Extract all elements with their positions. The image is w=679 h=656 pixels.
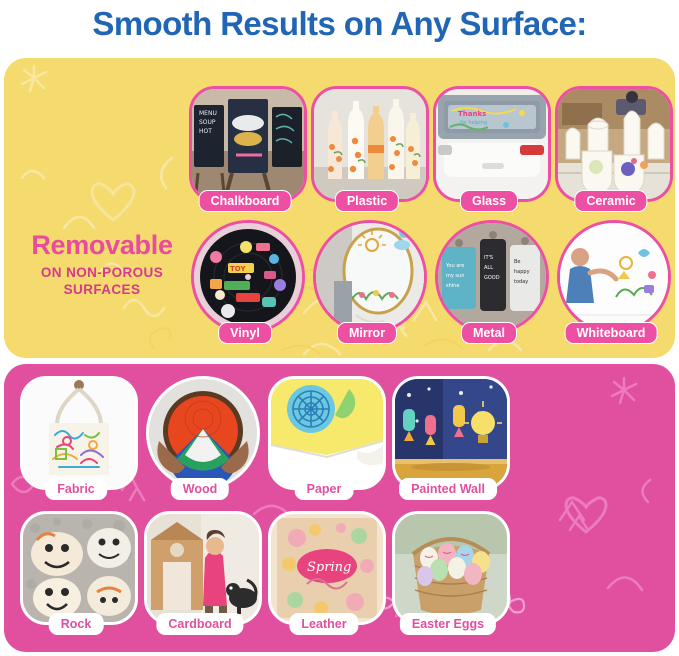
tile-ceramic[interactable]: Ceramic: [555, 86, 667, 204]
thumb-mirror: [313, 220, 427, 334]
section-removable: Removable ON NON-POROUS SURFACES MENUSOU…: [4, 58, 675, 358]
thumb-wood: [146, 376, 260, 490]
section-caption-removable: Removable ON NON-POROUS SURFACES: [6, 230, 198, 298]
tile-label: Chalkboard: [199, 190, 292, 212]
svg-text:Thanks: Thanks: [458, 110, 486, 118]
section-permanent: Permanent ON POROUS SURFACES: [4, 364, 675, 652]
svg-text:shine: shine: [446, 283, 459, 289]
tile-leather[interactable]: Spring Leather: [268, 511, 380, 631]
thumb-vinyl: TOY: [191, 220, 305, 334]
thumb-glass: Thanks for helping: [433, 86, 551, 202]
section-heading: Removable: [6, 230, 198, 260]
tile-glass[interactable]: Thanks for helping Glass: [433, 86, 545, 204]
heart-icon: [90, 180, 136, 222]
svg-text:today: today: [514, 279, 528, 285]
thumb-plastic: [311, 86, 429, 202]
tile-whiteboard[interactable]: Whiteboard: [555, 220, 667, 340]
thumb-paper: [268, 376, 386, 490]
svg-text:TOY: TOY: [230, 265, 246, 273]
heart-icon: [564, 494, 608, 534]
thumb-easter-eggs: [392, 511, 510, 625]
tile-painted-wall[interactable]: Painted Wall: [392, 376, 504, 496]
svg-text:IT'S: IT'S: [484, 255, 493, 261]
tile-fabric[interactable]: Fabric: [20, 376, 132, 496]
section-subheading-line2: SURFACES: [64, 282, 141, 297]
svg-text:ALL: ALL: [484, 265, 493, 271]
tile-label: Wood: [171, 478, 229, 500]
tile-label: Vinyl: [218, 322, 272, 344]
tile-label: Whiteboard: [565, 322, 658, 344]
tile-label: Leather: [289, 613, 358, 635]
thumb-whiteboard: [557, 220, 671, 334]
svg-text:Spring: Spring: [307, 560, 351, 575]
tile-chalkboard[interactable]: MENUSOUPHOT Chalkboard: [189, 86, 301, 204]
svg-text:HOT: HOT: [199, 128, 212, 135]
tile-label: Cardboard: [156, 613, 243, 635]
tile-mirror[interactable]: Mirror: [311, 220, 423, 340]
thumb-fabric: [20, 376, 138, 490]
thumb-painted-wall: [392, 376, 510, 490]
tile-label: Mirror: [337, 322, 397, 344]
page-title: Smooth Results on Any Surface:: [0, 2, 679, 46]
svg-text:You are: You are: [445, 263, 464, 269]
svg-text:SOUP: SOUP: [199, 119, 216, 126]
tile-rock[interactable]: Rock: [20, 511, 132, 631]
tile-label: Glass: [460, 190, 518, 212]
svg-text:MENU: MENU: [199, 110, 217, 117]
section-subheading-line1: ON NON-POROUS: [41, 265, 163, 280]
svg-text:happy: happy: [514, 269, 530, 275]
tile-label: Painted Wall: [399, 478, 497, 500]
tile-label: Fabric: [45, 478, 107, 500]
tile-label: Ceramic: [574, 190, 647, 212]
tile-label: Easter Eggs: [400, 613, 496, 635]
svg-text:my sun: my sun: [446, 273, 464, 279]
tile-label: Paper: [295, 478, 354, 500]
thumb-cardboard: [144, 511, 262, 625]
thumb-rock: [20, 511, 138, 625]
tile-label: Metal: [461, 322, 517, 344]
tile-easter-eggs[interactable]: Easter Eggs: [392, 511, 504, 631]
thumb-metal: You aremy sunshine IT'SALLGOOD Behappyto…: [435, 220, 549, 334]
tile-wood[interactable]: Wood: [144, 376, 256, 496]
tile-metal[interactable]: You aremy sunshine IT'SALLGOOD Behappyto…: [433, 220, 545, 340]
tile-paper[interactable]: Paper: [268, 376, 380, 496]
svg-text:Be: Be: [514, 259, 521, 265]
tile-vinyl[interactable]: TOY Vinyl: [189, 220, 301, 340]
thumb-chalkboard: MENUSOUPHOT: [189, 86, 307, 202]
svg-text:GOOD: GOOD: [484, 275, 500, 281]
tile-plastic[interactable]: Plastic: [311, 86, 423, 204]
tile-label: Plastic: [335, 190, 399, 212]
tile-label: Rock: [49, 613, 104, 635]
thumb-ceramic: [555, 86, 673, 202]
thumb-leather: Spring: [268, 511, 386, 625]
tile-cardboard[interactable]: Cardboard: [144, 511, 256, 631]
